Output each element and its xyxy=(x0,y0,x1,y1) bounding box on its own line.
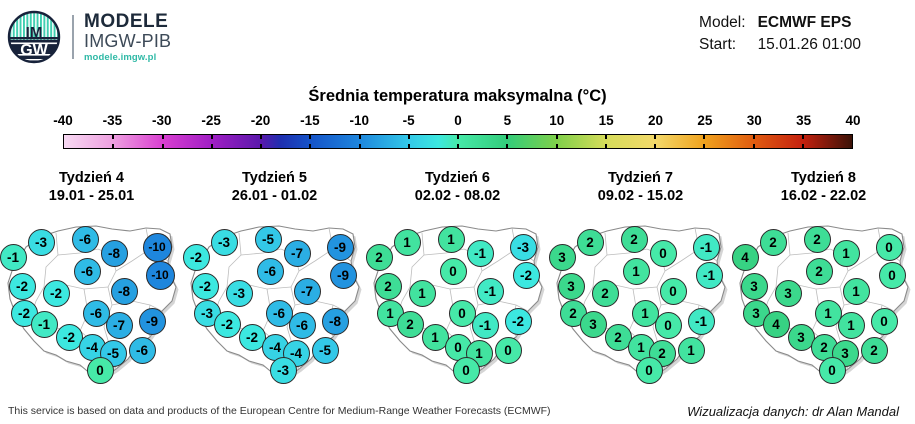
station-markers: -2-3-5-7-9-9-6-2-3-7-3-6-2-6-8-2-4-4-5-3 xyxy=(183,209,366,381)
colorbar-tick-mark xyxy=(309,135,311,139)
poland-map: -2-3-5-7-9-9-6-2-3-7-3-6-2-6-8-2-4-4-5-3 xyxy=(183,209,366,381)
station-value-marker: 2 xyxy=(577,229,604,256)
station-value-marker: -5 xyxy=(255,226,282,253)
colorbar-title: Średnia temperatura maksymalna (°C) xyxy=(0,87,915,106)
station-value-marker: -7 xyxy=(106,312,133,339)
week-panel-title: Tydzień 7 xyxy=(549,170,732,188)
week-panel-title: Tydzień 8 xyxy=(732,170,915,188)
station-value-marker: -9 xyxy=(327,234,354,261)
station-markers: 42210023313141032320 xyxy=(732,209,915,381)
colorbar-tick-mark xyxy=(556,144,558,148)
station-value-marker: 2 xyxy=(366,244,393,271)
colorbar-tick-mark xyxy=(162,144,164,148)
colorbar-tick-label: 15 xyxy=(599,113,614,128)
brand-title: MODELE xyxy=(84,12,171,31)
station-value-marker: -6 xyxy=(74,258,101,285)
colorbar-tick-mark xyxy=(703,135,705,139)
footer-disclaimer: This service is based on data and produc… xyxy=(8,405,551,417)
station-value-marker: -1 xyxy=(0,244,27,271)
station-value-marker: 2 xyxy=(760,229,787,256)
colorbar-tick-mark xyxy=(556,135,558,139)
colorbar-tick-label: -40 xyxy=(53,113,73,128)
colorbar-tick-label: -20 xyxy=(251,113,271,128)
colorbar-tick-label: -30 xyxy=(152,113,172,128)
station-value-marker: 2 xyxy=(861,337,888,364)
station-value-marker: -9 xyxy=(330,262,357,289)
week-panel-title: Tydzień 4 xyxy=(0,170,183,188)
station-value-marker: -3 xyxy=(226,280,253,307)
station-value-marker: 0 xyxy=(655,312,682,339)
station-value-marker: 1 xyxy=(409,280,436,307)
station-value-marker: 0 xyxy=(453,357,480,384)
colorbar-tick-mark xyxy=(260,144,262,148)
week-panel-title: Tydzień 6 xyxy=(366,170,549,188)
colorbar-tick-label: 0 xyxy=(454,113,462,128)
colorbar-tick-mark xyxy=(703,144,705,148)
station-value-marker: -1 xyxy=(31,311,58,338)
week-panel: Tydzień 816.02 - 22.02422100233131410323… xyxy=(732,170,915,390)
model-row: Model: ECMWF EPS xyxy=(699,14,861,36)
brand-divider xyxy=(72,15,74,59)
colorbar-tick-label: -35 xyxy=(103,113,123,128)
station-value-marker: -8 xyxy=(111,278,138,305)
colorbar-tick-mark xyxy=(753,144,755,148)
station-value-marker: -6 xyxy=(129,337,156,364)
station-value-marker: 2 xyxy=(804,226,831,253)
poland-map: 211-1-3-2021-1102-1-210100 xyxy=(366,209,549,381)
station-value-marker: 0 xyxy=(819,357,846,384)
colorbar-tick-mark xyxy=(654,135,656,139)
station-value-marker: -3 xyxy=(28,229,55,256)
week-panel-daterange: 26.01 - 01.02 xyxy=(183,188,366,206)
station-value-marker: 0 xyxy=(495,337,522,364)
brand-header: IM GW MODELE IMGW-PIB modele.imgw.pl xyxy=(6,10,171,64)
station-value-marker: -10 xyxy=(146,261,175,290)
brand-url: modele.imgw.pl xyxy=(84,53,171,63)
station-value-marker: -1 xyxy=(467,240,494,267)
colorbar-tick-mark xyxy=(506,135,508,139)
week-panel-daterange: 16.02 - 22.02 xyxy=(732,188,915,206)
station-value-marker: 1 xyxy=(833,240,860,267)
station-value-marker: -3 xyxy=(211,229,238,256)
colorbar-tick-label: 5 xyxy=(504,113,512,128)
logo-mark-bottom-text: GW xyxy=(20,42,48,59)
colorbar-tick-label: 25 xyxy=(697,113,712,128)
colorbar-tick-label: 35 xyxy=(796,113,811,128)
colorbar-tick-mark xyxy=(211,135,213,139)
weekly-map-panels: Tydzień 419.01 - 25.01-1-3-6-8-10-10-6-2… xyxy=(0,170,915,390)
station-value-marker: -6 xyxy=(257,258,284,285)
station-value-marker: -3 xyxy=(270,357,297,384)
colorbar-tick-mark xyxy=(162,135,164,139)
colorbar-tick-mark xyxy=(457,144,459,148)
station-value-marker: -2 xyxy=(192,273,219,300)
colorbar-tick-mark xyxy=(802,135,804,139)
poland-map: 3220-1-113202130-121210 xyxy=(549,209,732,381)
colorbar-tick-mark xyxy=(605,144,607,148)
week-panel: Tydzień 709.02 - 15.023220-1-113202130-1… xyxy=(549,170,732,390)
colorbar-tick-mark xyxy=(408,135,410,139)
colorbar-tick-mark xyxy=(359,135,361,139)
colorbar-tick-mark xyxy=(802,144,804,148)
imgw-logo-svg: IM GW xyxy=(6,10,62,64)
station-value-marker: 3 xyxy=(549,244,576,271)
station-value-marker: -2 xyxy=(43,280,70,307)
colorbar-tick-label: 30 xyxy=(747,113,762,128)
colorbar-tick-mark xyxy=(457,135,459,139)
colorbar-tick-mark xyxy=(605,135,607,139)
station-value-marker: -2 xyxy=(214,311,241,338)
colorbar-tick-mark xyxy=(408,144,410,148)
week-panel-daterange: 09.02 - 15.02 xyxy=(549,188,732,206)
colorbar-tick-labels: -40-35-30-25-20-15-10-50510152025303540 xyxy=(63,113,853,130)
station-value-marker: 0 xyxy=(87,357,114,384)
brand-text-block: MODELE IMGW-PIB modele.imgw.pl xyxy=(84,12,171,63)
start-label: Start: xyxy=(699,36,758,58)
station-value-marker: 0 xyxy=(440,258,467,285)
model-label: Model: xyxy=(699,14,758,36)
colorbar-tick-mark xyxy=(506,144,508,148)
colorbar-tick-mark xyxy=(112,144,114,148)
station-value-marker: 3 xyxy=(741,273,768,300)
colorbar-tick-label: -10 xyxy=(349,113,369,128)
station-value-marker: -3 xyxy=(510,234,537,261)
station-value-marker: 2 xyxy=(397,311,424,338)
start-value: 15.01.26 01:00 xyxy=(758,36,861,58)
station-value-marker: -1 xyxy=(696,262,723,289)
colorbar-tick-label: -5 xyxy=(403,113,415,128)
footer-credit: Wizualizacja danych: dr Alan Mandal xyxy=(687,404,899,419)
station-value-marker: -6 xyxy=(72,226,99,253)
station-value-marker: 4 xyxy=(732,244,759,271)
station-value-marker: 0 xyxy=(660,278,687,305)
station-value-marker: 3 xyxy=(558,273,585,300)
station-value-marker: 1 xyxy=(678,337,705,364)
logo-mark-top-text: IM xyxy=(26,24,43,41)
colorbar-tick-mark xyxy=(753,135,755,139)
colorbar-tick-label: 40 xyxy=(845,113,860,128)
colorbar-tick-mark xyxy=(654,144,656,148)
week-panel-daterange: 19.01 - 25.01 xyxy=(0,188,183,206)
station-value-marker: 2 xyxy=(375,273,402,300)
station-value-marker: 0 xyxy=(871,308,898,335)
forecast-infographic: IM GW MODELE IMGW-PIB modele.imgw.pl Mod… xyxy=(0,0,915,424)
station-value-marker: 1 xyxy=(623,258,650,285)
station-markers: -1-3-6-8-10-10-6-2-2-8-2-6-1-7-9-2-4-5-6… xyxy=(0,209,183,381)
station-value-marker: -9 xyxy=(139,308,166,335)
colorbar-tick-label: 20 xyxy=(648,113,663,128)
station-value-marker: -1 xyxy=(477,278,504,305)
model-value: ECMWF EPS xyxy=(758,14,861,36)
station-markers: 3220-1-113202130-121210 xyxy=(549,209,732,381)
station-value-marker: -1 xyxy=(688,308,715,335)
colorbar-tick-mark xyxy=(211,144,213,148)
colorbar-tick-mark xyxy=(112,135,114,139)
poland-map: -1-3-6-8-10-10-6-2-2-8-2-6-1-7-9-2-4-5-6… xyxy=(0,209,183,381)
start-row: Start: 15.01.26 01:00 xyxy=(699,36,861,58)
station-value-marker: 4 xyxy=(763,311,790,338)
colorbar-tick-label: 10 xyxy=(549,113,564,128)
station-value-marker: -7 xyxy=(294,278,321,305)
station-markers: 211-1-3-2021-1102-1-210100 xyxy=(366,209,549,381)
station-value-marker: 0 xyxy=(650,240,677,267)
station-value-marker: -8 xyxy=(322,308,349,335)
station-value-marker: -1 xyxy=(693,234,720,261)
station-value-marker: -2 xyxy=(9,273,36,300)
station-value-marker: 1 xyxy=(394,229,421,256)
station-value-marker: 0 xyxy=(879,262,906,289)
poland-map: 42210023313141032320 xyxy=(732,209,915,381)
imgw-circle-logo: IM GW xyxy=(6,10,62,64)
station-value-marker: -2 xyxy=(183,244,210,271)
colorbar-gradient-bar xyxy=(63,134,853,149)
colorbar: -40-35-30-25-20-15-10-50510152025303540 xyxy=(63,113,853,149)
model-metadata: Model: ECMWF EPS Start: 15.01.26 01:00 xyxy=(699,14,861,58)
station-value-marker: 0 xyxy=(876,234,903,261)
station-value-marker: -2 xyxy=(505,308,532,335)
station-value-marker: 2 xyxy=(621,226,648,253)
station-value-marker: 3 xyxy=(775,280,802,307)
brand-subtitle: IMGW-PIB xyxy=(84,32,171,50)
week-panel: Tydzień 526.01 - 01.02-2-3-5-7-9-9-6-2-3… xyxy=(183,170,366,390)
station-value-marker: 1 xyxy=(438,226,465,253)
station-value-marker: 1 xyxy=(843,278,870,305)
week-panel-daterange: 02.02 - 08.02 xyxy=(366,188,549,206)
week-panel: Tydzień 602.02 - 08.02211-1-3-2021-1102-… xyxy=(366,170,549,390)
station-value-marker: -6 xyxy=(289,312,316,339)
station-value-marker: 3 xyxy=(580,311,607,338)
colorbar-tick-mark xyxy=(309,144,311,148)
station-value-marker: 2 xyxy=(806,258,833,285)
station-value-marker: 0 xyxy=(636,357,663,384)
colorbar-tick-label: -25 xyxy=(201,113,221,128)
station-value-marker: 1 xyxy=(838,312,865,339)
station-value-marker: -2 xyxy=(513,262,540,289)
colorbar-tick-mark xyxy=(359,144,361,148)
station-value-marker: -5 xyxy=(312,337,339,364)
station-value-marker: -10 xyxy=(143,233,172,262)
week-panel: Tydzień 419.01 - 25.01-1-3-6-8-10-10-6-2… xyxy=(0,170,183,390)
colorbar-tick-label: -15 xyxy=(300,113,320,128)
station-value-marker: -7 xyxy=(284,240,311,267)
station-value-marker: -1 xyxy=(472,312,499,339)
week-panel-title: Tydzień 5 xyxy=(183,170,366,188)
station-value-marker: 2 xyxy=(592,280,619,307)
station-value-marker: -8 xyxy=(101,240,128,267)
colorbar-tick-mark xyxy=(260,135,262,139)
